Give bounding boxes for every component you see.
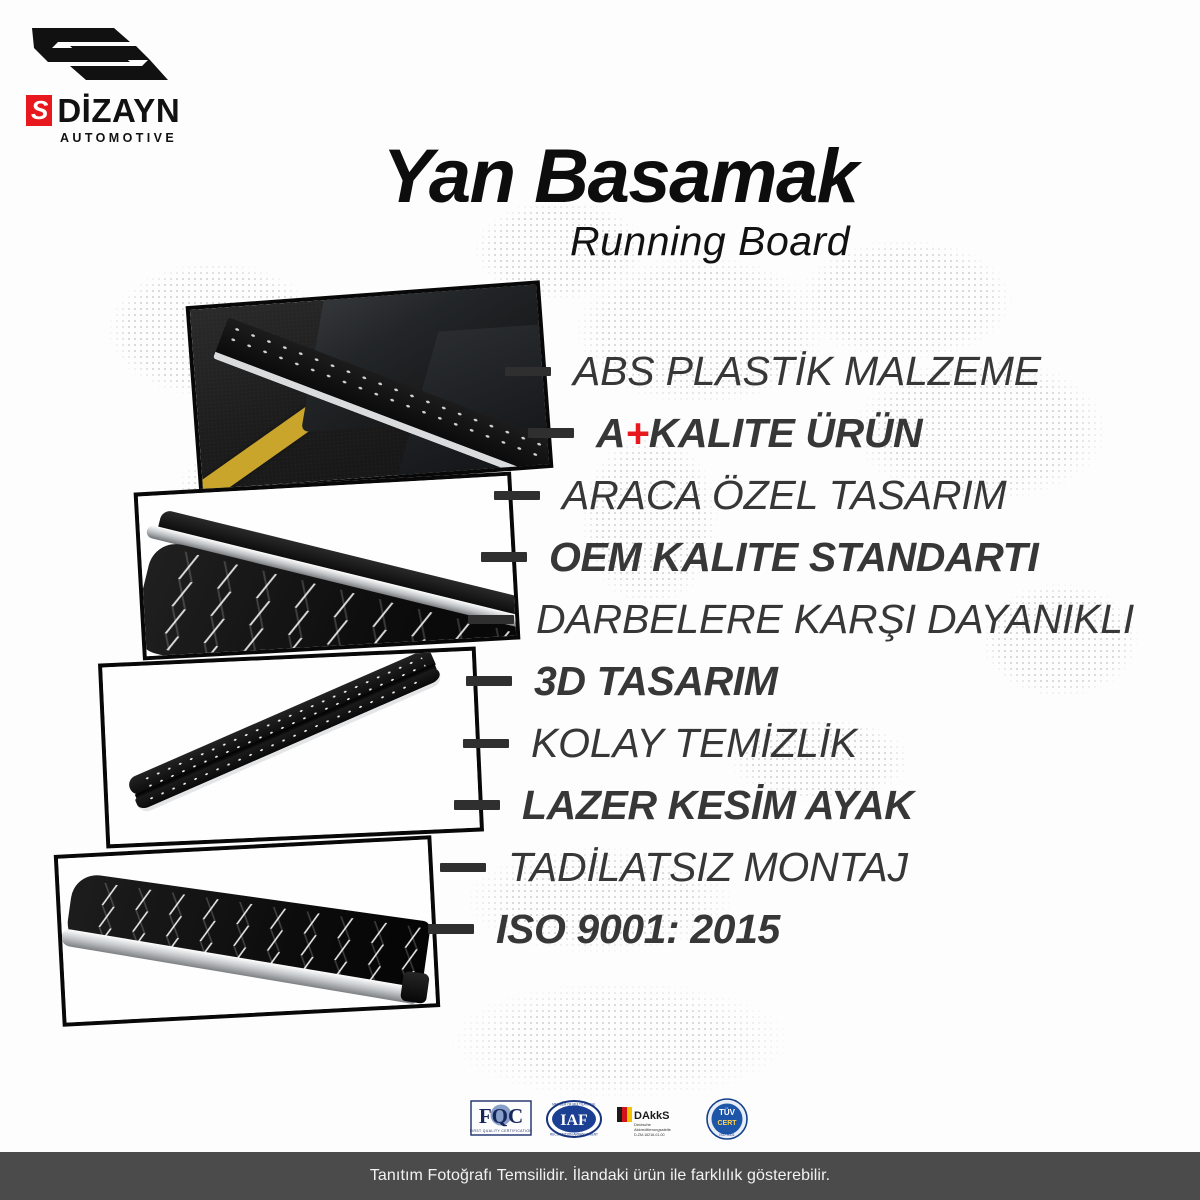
tuv-cert-certification-logo: TÜV CERT ISO 9001 bbox=[704, 1096, 750, 1142]
feature-item: OEM KALITE STANDARTI bbox=[0, 526, 1200, 588]
feature-item: A+KALITE ÜRÜN bbox=[0, 402, 1200, 464]
bullet-dash-icon bbox=[428, 924, 474, 934]
feature-item: KOLAY TEMİZLİK bbox=[0, 712, 1200, 774]
logo-s-badge: S bbox=[26, 95, 52, 126]
svg-text:FQC: FQC bbox=[479, 1104, 523, 1128]
feature-label: A+KALITE ÜRÜN bbox=[596, 413, 922, 454]
dakks-certification-logo: DAkkS Deutsche Akkreditierungsstelle D-Z… bbox=[615, 1096, 691, 1142]
disclaimer-footer: Tanıtım Fotoğrafı Temsilidir. İlandaki ü… bbox=[0, 1152, 1200, 1200]
feature-item: ISO 9001: 2015 bbox=[0, 898, 1200, 960]
feature-label: 3D TASARIM bbox=[534, 661, 778, 702]
feature-label: ISO 9001: 2015 bbox=[496, 909, 780, 950]
feature-label: KOLAY TEMİZLİK bbox=[531, 723, 857, 764]
headline-block: Yan Basamak Running Board bbox=[250, 140, 990, 265]
feature-item: ARACA ÖZEL TASARIM bbox=[0, 464, 1200, 526]
svg-text:D-ZM-16216-01-00: D-ZM-16216-01-00 bbox=[634, 1133, 665, 1137]
feature-label: OEM KALITE STANDARTI bbox=[549, 537, 1038, 578]
bullet-dash-icon bbox=[505, 367, 551, 376]
logo-tagline: AUTOMOTIVE bbox=[18, 131, 208, 145]
svg-text:MEMBER OF MULTILATERAL: MEMBER OF MULTILATERAL bbox=[552, 1103, 596, 1107]
svg-text:Akkreditierungsstelle: Akkreditierungsstelle bbox=[634, 1127, 672, 1132]
feature-item: DARBELERE KARŞI DAYANIKLI bbox=[0, 588, 1200, 650]
bullet-dash-icon bbox=[468, 615, 514, 624]
feature-item: LAZER KESİM AYAK bbox=[0, 774, 1200, 836]
svg-text:FIRST QUALITY CERTIFICATION: FIRST QUALITY CERTIFICATION bbox=[470, 1129, 532, 1133]
brand-logo[interactable]: S DİZAYN AUTOMOTIVE bbox=[18, 20, 208, 145]
feature-label: ABS PLASTİK MALZEME bbox=[573, 351, 1041, 392]
svg-text:RECOGNITION ARRANGEMENT: RECOGNITION ARRANGEMENT bbox=[550, 1133, 598, 1137]
bullet-dash-icon bbox=[494, 491, 540, 500]
feature-label-suffix: KALITE ÜRÜN bbox=[649, 410, 922, 456]
feature-item: ABS PLASTİK MALZEME bbox=[0, 340, 1200, 402]
product-poster: S DİZAYN AUTOMOTIVE Yan Basamak Running … bbox=[0, 0, 1200, 1200]
svg-text:DAkkS: DAkkS bbox=[634, 1110, 669, 1122]
s-dizayn-logo-mark bbox=[18, 20, 178, 88]
certification-badges: FQC FIRST QUALITY CERTIFICATION IAF MEMB… bbox=[470, 1090, 750, 1148]
svg-text:ISO 9001: ISO 9001 bbox=[719, 1133, 734, 1137]
feature-label: TADİLATSIZ MONTAJ bbox=[508, 847, 908, 888]
plus-accent: + bbox=[625, 410, 649, 456]
page-subtitle: Running Board bbox=[250, 218, 990, 265]
bullet-dash-icon bbox=[481, 552, 527, 562]
bullet-dash-icon bbox=[454, 800, 500, 810]
bullet-dash-icon bbox=[463, 739, 509, 748]
svg-text:TÜV: TÜV bbox=[719, 1108, 736, 1117]
svg-text:IAF: IAF bbox=[560, 1112, 588, 1129]
feature-label-prefix: A bbox=[596, 410, 625, 456]
feature-label: DARBELERE KARŞI DAYANIKLI bbox=[536, 599, 1134, 640]
bullet-dash-icon bbox=[528, 428, 574, 438]
feature-list: ABS PLASTİK MALZEME A+KALITE ÜRÜN ARACA … bbox=[0, 340, 1200, 960]
svg-text:CERT: CERT bbox=[717, 1120, 737, 1127]
logo-brand-name: DİZAYN bbox=[57, 94, 180, 127]
page-title: Yan Basamak bbox=[250, 140, 990, 214]
feature-label: ARACA ÖZEL TASARIM bbox=[562, 475, 1006, 516]
feature-label: LAZER KESİM AYAK bbox=[522, 785, 913, 826]
disclaimer-text: Tanıtım Fotoğrafı Temsilidir. İlandaki ü… bbox=[370, 1167, 830, 1185]
feature-item: TADİLATSIZ MONTAJ bbox=[0, 836, 1200, 898]
feature-item: 3D TASARIM bbox=[0, 650, 1200, 712]
bullet-dash-icon bbox=[440, 863, 486, 872]
fqc-certification-logo: FQC FIRST QUALITY CERTIFICATION bbox=[470, 1096, 532, 1142]
board-end-cap bbox=[400, 971, 430, 1004]
bullet-dash-icon bbox=[466, 676, 512, 686]
iaf-certification-logo: IAF MEMBER OF MULTILATERAL RECOGNITION A… bbox=[545, 1096, 603, 1142]
